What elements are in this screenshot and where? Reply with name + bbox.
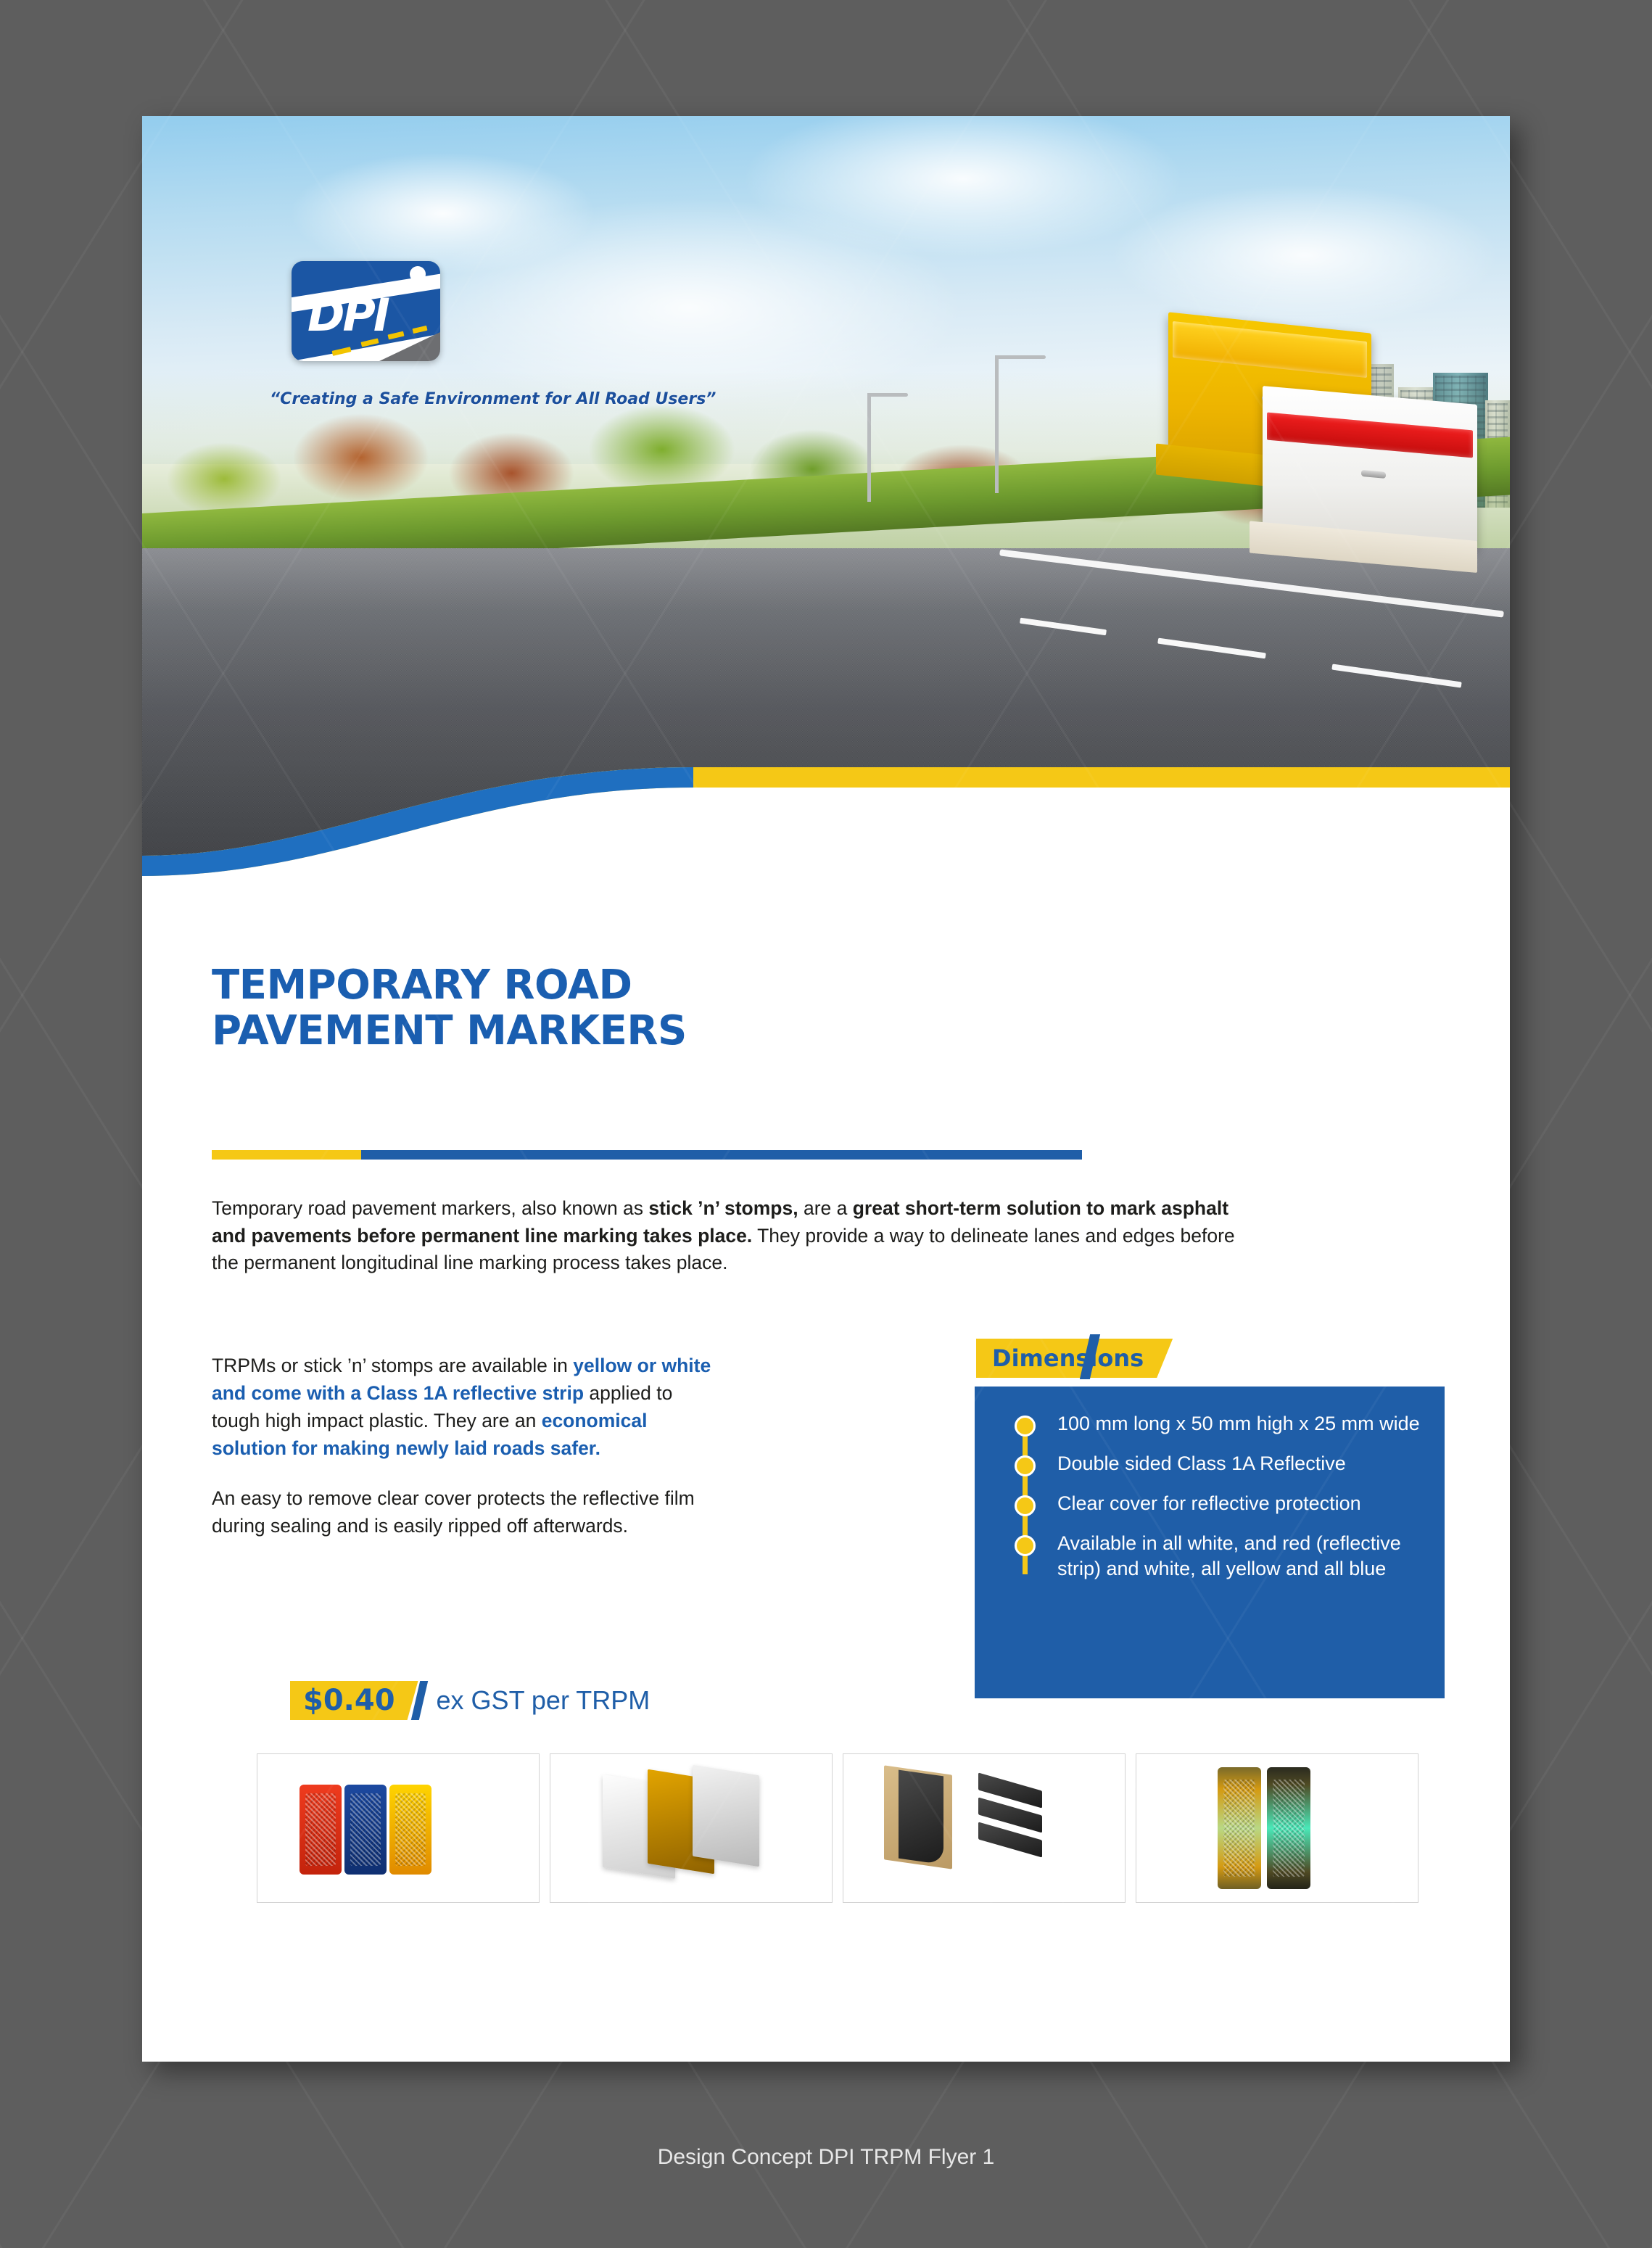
logo-road-dash bbox=[387, 331, 404, 340]
left-paragraph-1: TRPMs or stick ’n’ stomps are available … bbox=[212, 1352, 712, 1463]
thumbnail-adhesive-pads[interactable] bbox=[843, 1753, 1126, 1903]
bullet-dot-icon bbox=[1015, 1416, 1036, 1437]
content-area: TEMPORARY ROAD PAVEMENT MARKERS Temporar… bbox=[142, 890, 1510, 2062]
street-light-arm bbox=[867, 393, 908, 397]
hero-image bbox=[142, 116, 1510, 890]
bullet-dot-icon bbox=[1015, 1455, 1036, 1476]
intro-text-2: are a bbox=[798, 1197, 853, 1219]
dimensions-item: 100 mm long x 50 mm high x 25 mm wide bbox=[1007, 1411, 1420, 1437]
left-column-text: TRPMs or stick ’n’ stomps are available … bbox=[212, 1352, 712, 1540]
dpi-logo: DPI bbox=[292, 261, 440, 361]
dimensions-panel: 100 mm long x 50 mm high x 25 mm wide Do… bbox=[975, 1387, 1445, 1698]
left-paragraph-2: An easy to remove clear cover protects t… bbox=[212, 1484, 712, 1540]
product-photo-white-marker bbox=[1263, 386, 1477, 550]
dimensions-item: Available in all white, and red (reflect… bbox=[1007, 1531, 1420, 1582]
intro-bold-1: stick ’n’ stomps, bbox=[648, 1197, 798, 1219]
dimensions-item-text: Available in all white, and red (reflect… bbox=[1057, 1532, 1401, 1579]
intro-text-1: Temporary road pavement markers, also kn… bbox=[212, 1197, 648, 1219]
price-note: ex GST per TRPM bbox=[437, 1685, 651, 1716]
product-thumbnail-row bbox=[257, 1753, 1418, 1903]
dimensions-item-text: Clear cover for reflective protection bbox=[1057, 1492, 1361, 1514]
page-title: TEMPORARY ROAD PAVEMENT MARKERS bbox=[212, 963, 1009, 1054]
thumbnail-coloured-road-studs[interactable] bbox=[257, 1753, 540, 1903]
dimensions-list: 100 mm long x 50 mm high x 25 mm wide Do… bbox=[1007, 1411, 1420, 1596]
lp1-text-a: TRPMs or stick ’n’ stomps are available … bbox=[212, 1355, 573, 1376]
price-amount: $0.40 bbox=[290, 1681, 418, 1720]
logo-card: DPI bbox=[292, 261, 440, 361]
bullet-dot-icon bbox=[1015, 1535, 1036, 1556]
thumbnail-reflective-night-view[interactable] bbox=[1136, 1753, 1418, 1903]
dimensions-item: Clear cover for reflective protection bbox=[1007, 1491, 1420, 1516]
dimensions-item-text: Double sided Class 1A Reflective bbox=[1057, 1452, 1346, 1474]
dimensions-tab: Dimensions bbox=[976, 1339, 1173, 1378]
headline-line-1: TEMPORARY ROAD bbox=[212, 962, 632, 1009]
street-light-pole bbox=[995, 355, 999, 493]
swoosh-divider bbox=[142, 754, 1510, 890]
street-light-arm bbox=[995, 355, 1046, 359]
logo-wordmark: DPI bbox=[307, 293, 388, 338]
headline-line-2: PAVEMENT MARKERS bbox=[212, 1007, 687, 1054]
brand-tagline: “Creating a Safe Environment for All Roa… bbox=[270, 390, 716, 408]
logo-road-dash bbox=[412, 326, 427, 334]
bullet-dot-icon bbox=[1015, 1495, 1036, 1516]
image-caption: Design Concept DPI TRPM Flyer 1 bbox=[0, 2145, 1652, 2170]
screenshot-canvas: DPI “Creating a Safe Environment for All… bbox=[0, 0, 1652, 2248]
intro-paragraph: Temporary road pavement markers, also kn… bbox=[212, 1195, 1249, 1277]
street-light-pole bbox=[867, 393, 871, 502]
thumbnail-reflective-sheeting[interactable] bbox=[550, 1753, 833, 1903]
dimensions-item-text: 100 mm long x 50 mm high x 25 mm wide bbox=[1057, 1413, 1420, 1434]
flyer-page: DPI “Creating a Safe Environment for All… bbox=[142, 116, 1510, 2062]
dimensions-item: Double sided Class 1A Reflective bbox=[1007, 1451, 1420, 1476]
logo-i-dot bbox=[410, 266, 426, 282]
title-rule-accent bbox=[212, 1150, 361, 1160]
price-block: $0.40 ex GST per TRPM bbox=[290, 1681, 650, 1720]
